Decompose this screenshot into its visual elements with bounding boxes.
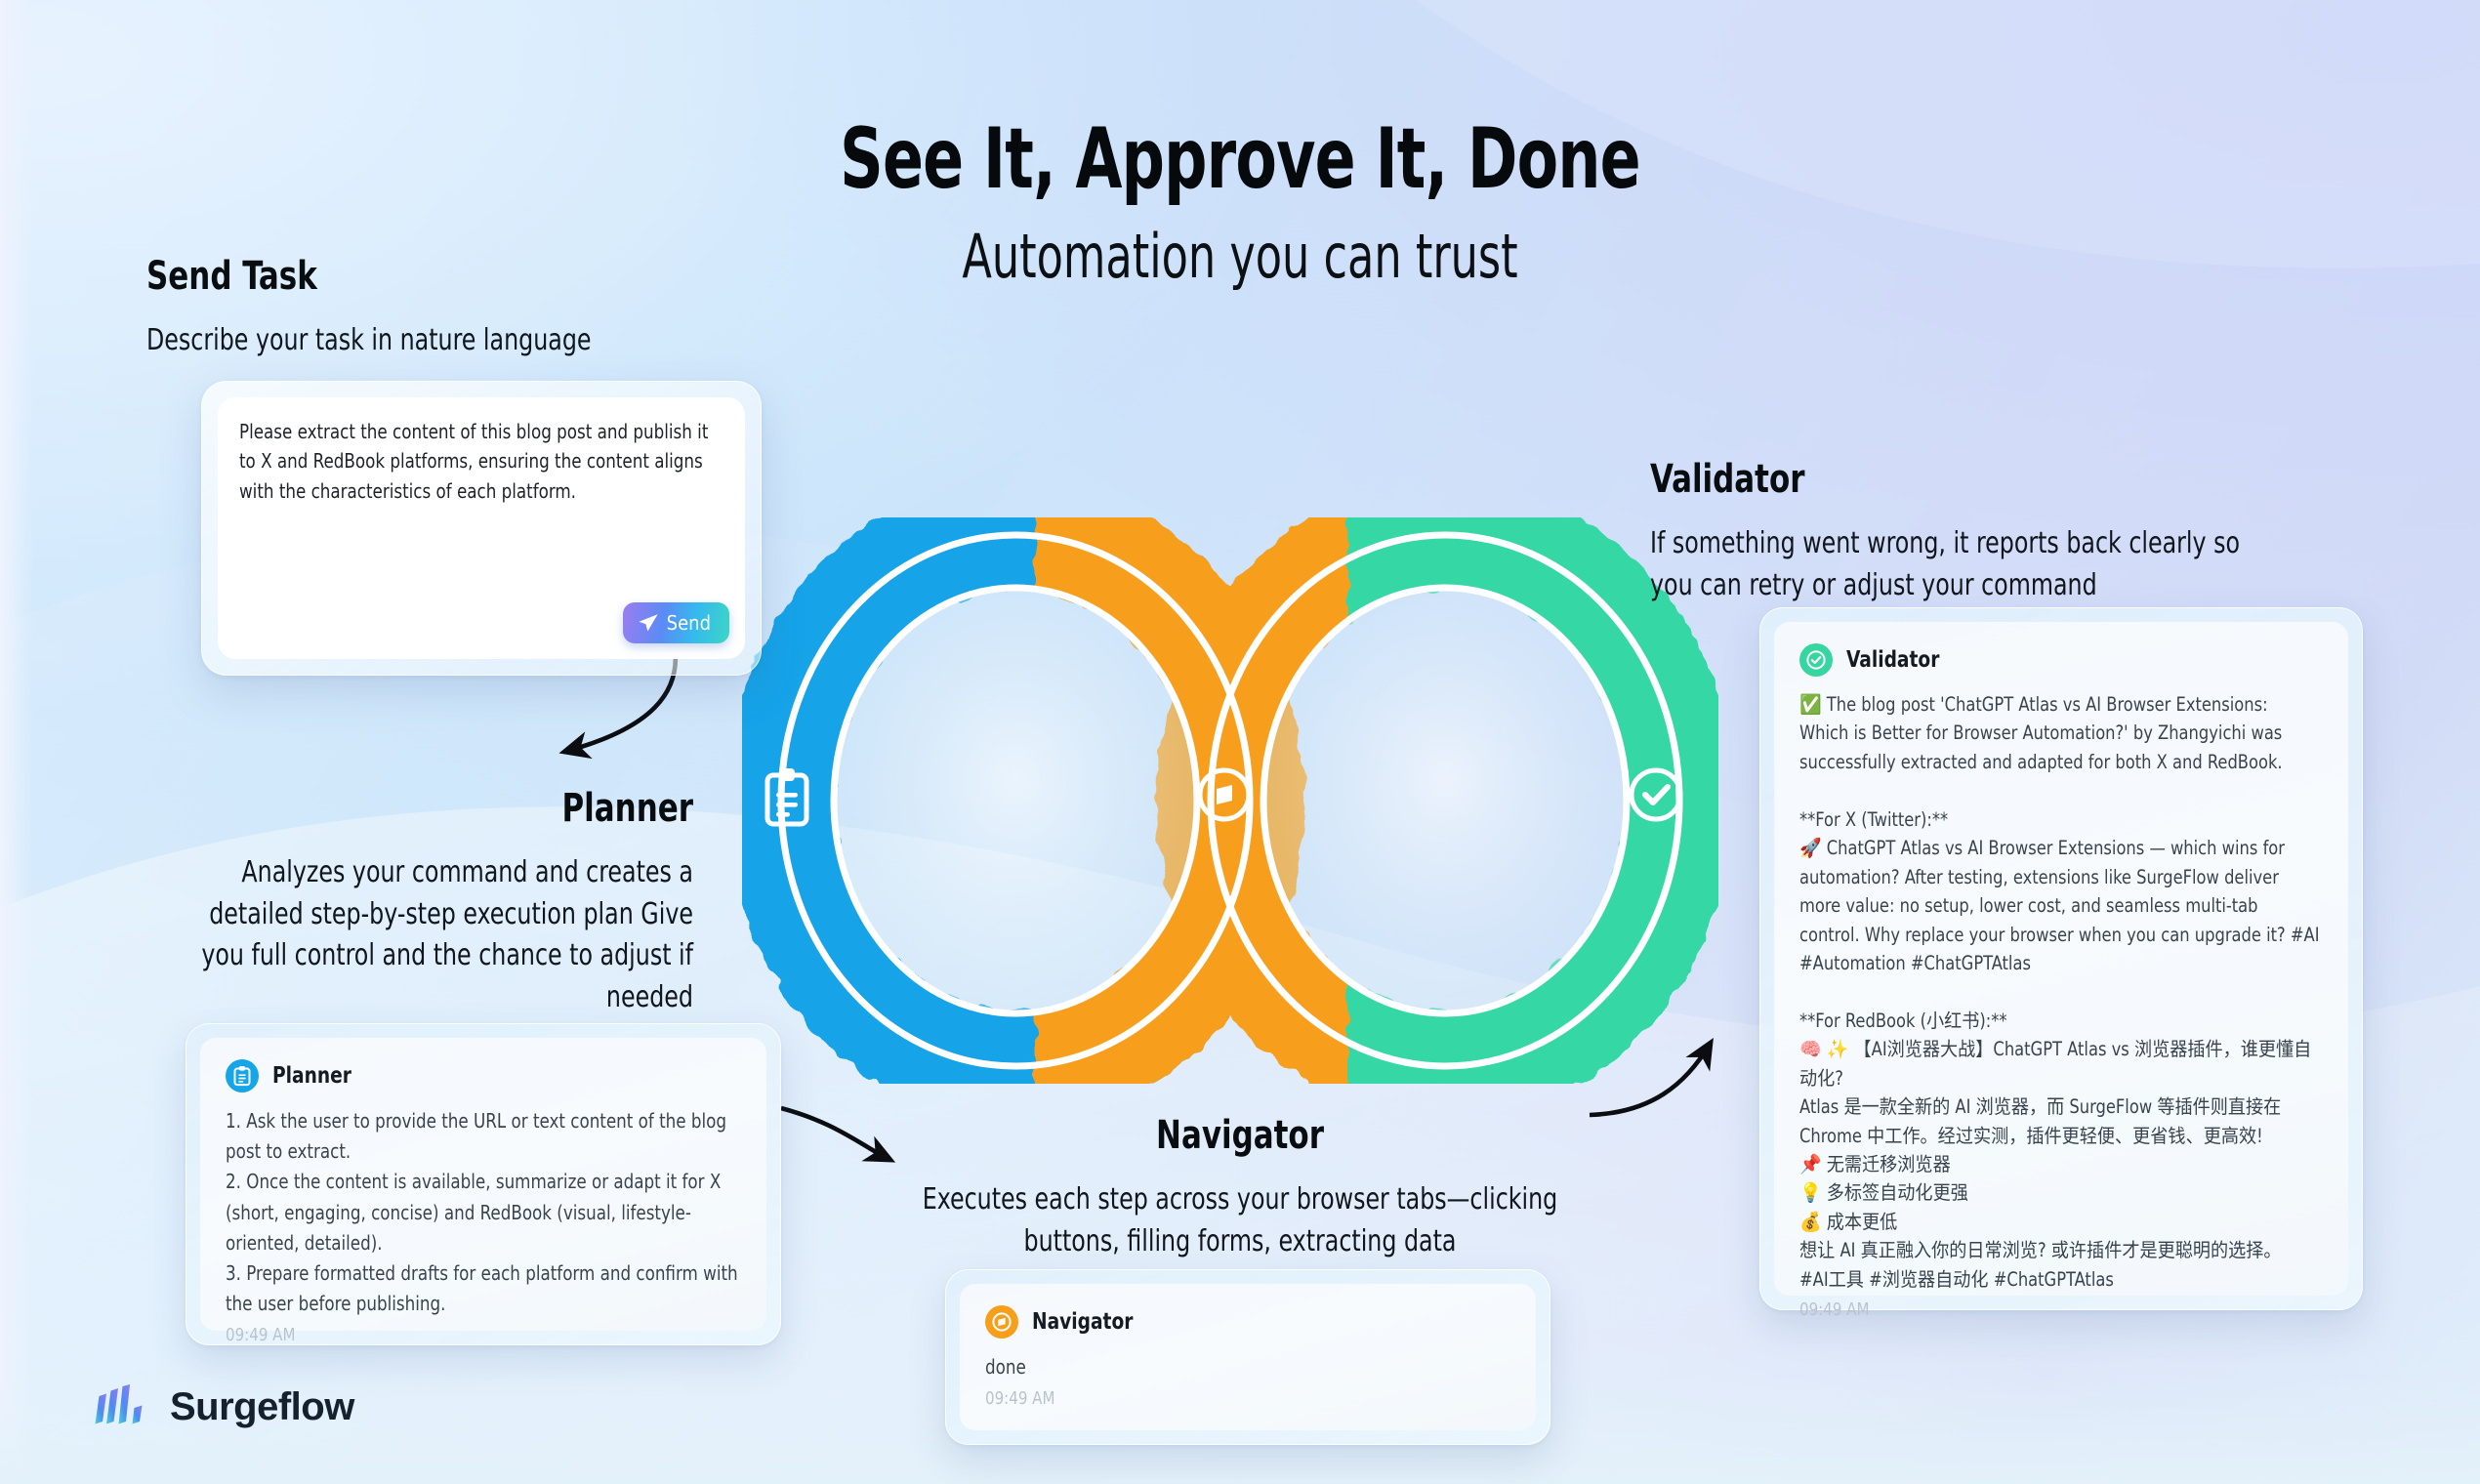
planner-message-body: 1. Ask the user to provide the URL or te…	[226, 1106, 738, 1319]
validator-message-header: Validator	[1799, 643, 2323, 677]
check-badge-icon	[1799, 643, 1833, 677]
validator-message-inner: Validator ✅ The blog post 'ChatGPT Atlas…	[1774, 622, 2348, 1296]
clipboard-badge-icon	[226, 1059, 259, 1092]
infinity-loop-diagram	[742, 517, 1718, 1084]
validator-message-body: ✅ The blog post 'ChatGPT Atlas vs AI Bro…	[1799, 690, 2320, 1294]
send-button-label: Send	[667, 611, 711, 635]
brand-name: Surgeflow	[170, 1385, 354, 1429]
validator-timestamp: 09:49 AM	[1799, 1299, 2286, 1320]
navigator-heading: Navigator	[930, 1113, 1550, 1158]
clipboard-icon	[232, 1065, 252, 1087]
paper-plane-icon	[638, 612, 659, 634]
validator-agent-name: Validator	[1846, 647, 1939, 673]
section-navigator: Navigator Executes each step across your…	[879, 1113, 1601, 1262]
planner-timestamp: 09:49 AM	[226, 1325, 705, 1345]
compass-icon	[991, 1311, 1013, 1333]
validator-heading: Validator	[1650, 457, 2238, 502]
section-send-task: Send Task Describe your task in nature l…	[146, 254, 830, 362]
planner-heading: Planner	[198, 786, 693, 831]
validator-message-card: Validator ✅ The blog post 'ChatGPT Atlas…	[1759, 607, 2363, 1310]
planner-message-card: Planner 1. Ask the user to provide the U…	[186, 1023, 781, 1345]
navigator-message-card: Navigator done 09:49 AM	[945, 1269, 1550, 1445]
compass-badge-icon	[985, 1305, 1018, 1339]
planner-description: Analyzes your command and creates a deta…	[186, 852, 693, 1018]
navigator-description: Executes each step across your browser t…	[922, 1179, 1557, 1262]
navigator-message-body: done	[985, 1352, 1508, 1382]
navigator-timestamp: 09:49 AM	[985, 1388, 1473, 1409]
task-composer-card: Please extract the content of this blog …	[201, 381, 762, 676]
section-validator: Validator If something went wrong, it re…	[1650, 457, 2334, 606]
navigator-message-header: Navigator	[985, 1305, 1510, 1339]
brand-logo: Surgeflow	[90, 1384, 354, 1429]
planner-message-header: Planner	[226, 1059, 741, 1092]
page-title: See It, Approve It, Done	[248, 117, 2232, 203]
send-task-description: Describe your task in nature language	[146, 320, 748, 362]
task-input[interactable]: Please extract the content of this blog …	[239, 417, 722, 506]
send-button[interactable]: Send	[623, 602, 729, 643]
navigator-message-inner: Navigator done 09:49 AM	[960, 1284, 1536, 1430]
section-planner: Planner Analyzes your command and create…	[117, 786, 693, 1018]
poster-canvas: See It, Approve It, Done Automation you …	[0, 0, 2480, 1484]
surgeflow-mark-icon	[90, 1384, 150, 1429]
planner-message-inner: Planner 1. Ask the user to provide the U…	[200, 1038, 766, 1331]
task-composer-inner: Please extract the content of this blog …	[218, 397, 745, 659]
planner-agent-name: Planner	[272, 1063, 351, 1089]
validator-description: If something went wrong, it reports back…	[1650, 523, 2252, 606]
send-task-heading: Send Task	[146, 254, 734, 299]
check-circle-icon	[1805, 649, 1827, 671]
navigator-agent-name: Navigator	[1032, 1309, 1133, 1335]
